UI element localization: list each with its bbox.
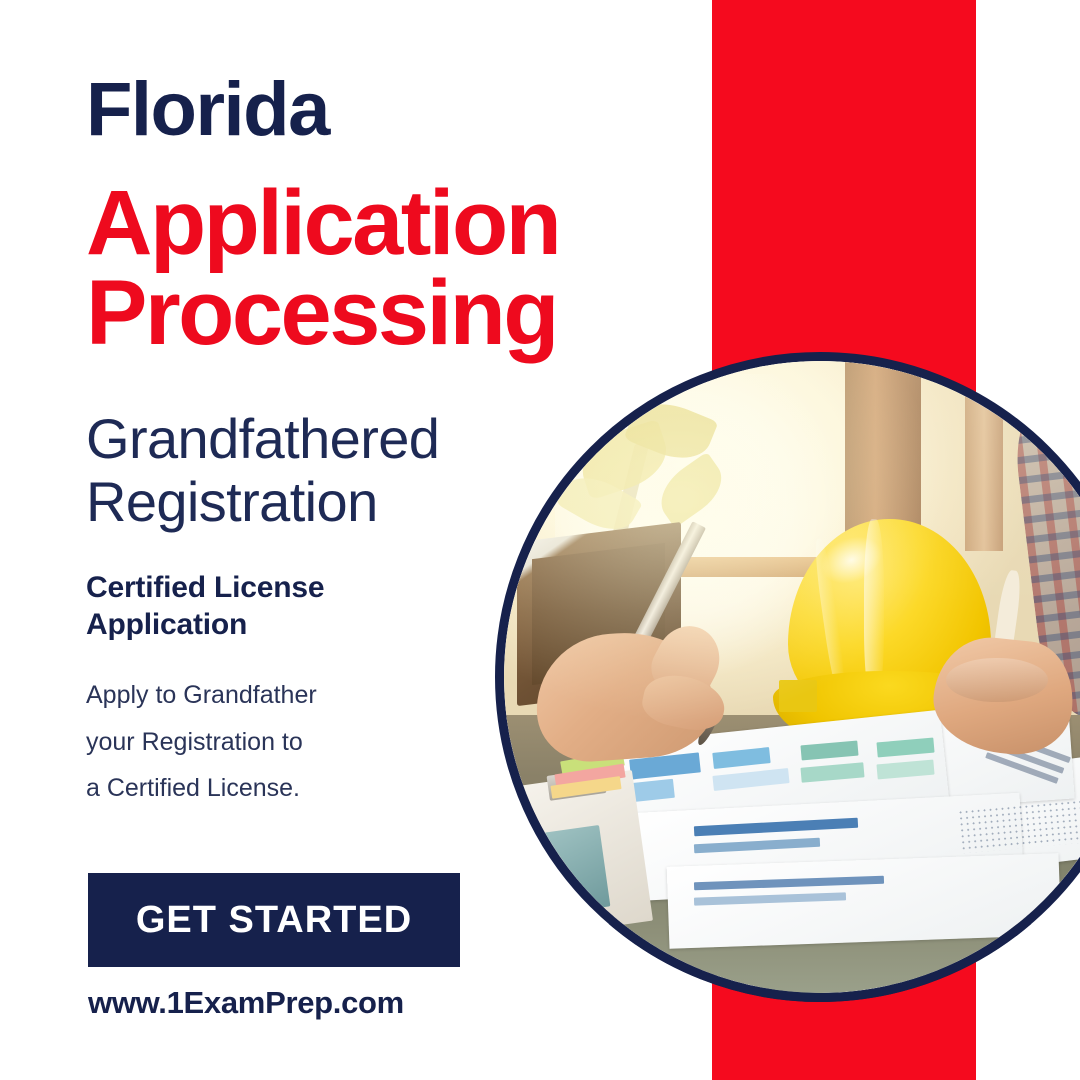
text-column: Florida Application Processing Grandfath… [86,0,686,1080]
service-name: Certified License Application [86,570,324,643]
red-accent-stripe-foreground [712,1002,976,1080]
headline-line-1: Application [86,172,559,274]
subheading-line-2: Registration [86,471,439,534]
description-line-2: your Registration to [86,719,317,766]
description-line-3: a Certified License. [86,765,317,812]
description-text: Apply to Grandfather your Registration t… [86,672,317,812]
website-url[interactable]: www.1ExamPrep.com [88,985,404,1021]
get-started-button[interactable]: GET STARTED [88,873,460,967]
description-line-1: Apply to Grandfather [86,681,317,709]
page-title: Application Processing [86,178,559,358]
photo-hard-hat-clip [779,680,817,712]
photo-wooden-post [965,361,1003,551]
photo-knuckles [946,658,1047,702]
service-name-line-1: Certified License [86,571,324,604]
service-name-line-2: Application [86,607,324,644]
subheading-line-1: Grandfathered [86,407,439,470]
state-kicker: Florida [86,72,329,148]
subheading: Grandfathered Registration [86,408,439,533]
promotional-poster: Florida Application Processing Grandfath… [0,0,1080,1080]
headline-line-2: Processing [86,268,559,358]
